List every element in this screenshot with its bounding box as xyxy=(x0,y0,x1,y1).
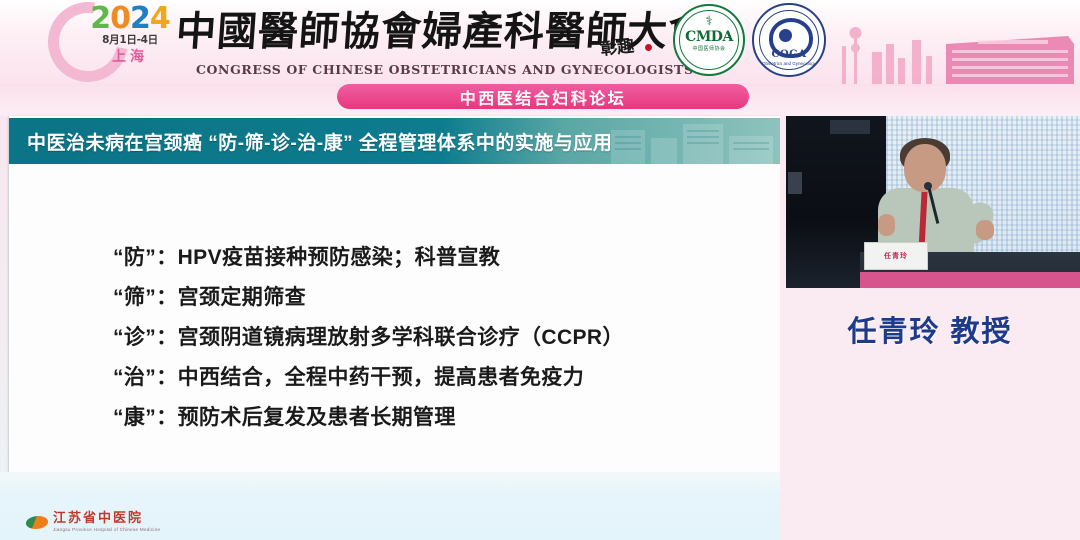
video-stage-equipment xyxy=(830,120,870,134)
speaker-video-feed[interactable]: 任青玲 xyxy=(786,116,1080,288)
hospital-swoosh-icon xyxy=(25,516,50,529)
event-title-english: CONGRESS OF CHINESE OBSTETRICIANS AND GY… xyxy=(196,62,694,77)
podium-nameplate-label: 任青玲 xyxy=(884,251,908,261)
slide-bullet-list: “防”：HPV疫苗接种预防感染；科普宣教 “筛”：宫颈定期筛查 “诊”：宫颈阴道… xyxy=(113,238,753,438)
bullet-item-shai: “筛”：宫颈定期筛查 xyxy=(113,278,753,318)
forum-title-label: 中西医结合妇科论坛 xyxy=(460,85,627,109)
shanghai-skyline-graphic xyxy=(828,0,1080,84)
forum-title-banner: 中西医结合妇科论坛 xyxy=(337,84,749,109)
slide-title-bar: 中医治未病在宫颈癌 “防-筛-诊-治-康” 全程管理体系中的实施与应用 xyxy=(9,118,780,164)
bullet-item-zhi: “治”：中西结合，全程中药干预，提高患者免疫力 xyxy=(113,358,753,398)
cmda-label: CMDA xyxy=(685,29,733,45)
hospital-logo: 江苏省中医院 Jiangsu Province Hospital of Chin… xyxy=(26,512,160,533)
cmda-sublabel: 中国医师协会 xyxy=(692,45,725,52)
coga-logo: COGA Obstetrics and Gynecology xyxy=(752,3,826,77)
presentation-stream: 2024 8月1日-4日 上海 中國醫師協會婦產科醫師大會 彰趣 CONGRES… xyxy=(0,0,1080,540)
bullet-item-fang: “防”：HPV疫苗接种预防感染；科普宣教 xyxy=(113,238,753,278)
speaker-right-hand xyxy=(976,220,994,240)
event-title-suffix: 彰趣 xyxy=(599,31,635,59)
hospital-name-english: Jiangsu Province Hospital of Chinese Med… xyxy=(53,526,160,533)
event-year-logo: 2024 8月1日-4日 上海 xyxy=(88,4,172,65)
coga-label: COGA xyxy=(754,49,824,60)
year-digit-2: 0 xyxy=(110,1,130,36)
cmda-logo: ⚕ CMDA 中国医师协会 xyxy=(673,4,745,76)
bullet-item-kang: “康”：预防术后复发及患者长期管理 xyxy=(113,398,753,438)
year-digit-4: 4 xyxy=(150,1,170,36)
seal-dot-icon xyxy=(645,44,652,51)
year-digit-3: 2 xyxy=(130,1,150,36)
year-digit-1: 2 xyxy=(90,1,110,36)
hospital-name: 江苏省中医院 xyxy=(53,512,160,526)
video-stage-panel xyxy=(788,172,802,194)
slide-building-graphic xyxy=(601,118,780,164)
slide-title: 中医治未病在宫颈癌 “防-筛-诊-治-康” 全程管理体系中的实施与应用 xyxy=(27,128,612,155)
speaker-left-hand xyxy=(878,214,895,236)
caduceus-icon: ⚕ xyxy=(705,13,712,29)
event-header-banner: 2024 8月1日-4日 上海 中國醫師協會婦產科醫師大會 彰趣 CONGRES… xyxy=(0,0,1080,84)
coga-infant-icon xyxy=(779,29,792,42)
bullet-item-zhen: “诊”：宫颈阴道镜病理放射多学科联合诊疗（CCPR） xyxy=(113,318,753,358)
podium-nameplate: 任青玲 xyxy=(864,242,928,270)
slide-area: 中医治未病在宫颈癌 “防-筛-诊-治-康” 全程管理体系中的实施与应用 “防”：… xyxy=(8,116,780,472)
speaker-name-label: 任青玲 教授 xyxy=(780,308,1080,350)
event-year: 2024 xyxy=(88,4,172,34)
event-city: 上海 xyxy=(88,47,172,65)
hospital-logo-text: 江苏省中医院 Jiangsu Province Hospital of Chin… xyxy=(53,512,160,533)
podium-base xyxy=(860,272,1080,288)
coga-sublabel: Obstetrics and Gynecology xyxy=(754,61,824,66)
speaker-panel: 任青玲 任青玲 教授 xyxy=(780,116,1080,540)
